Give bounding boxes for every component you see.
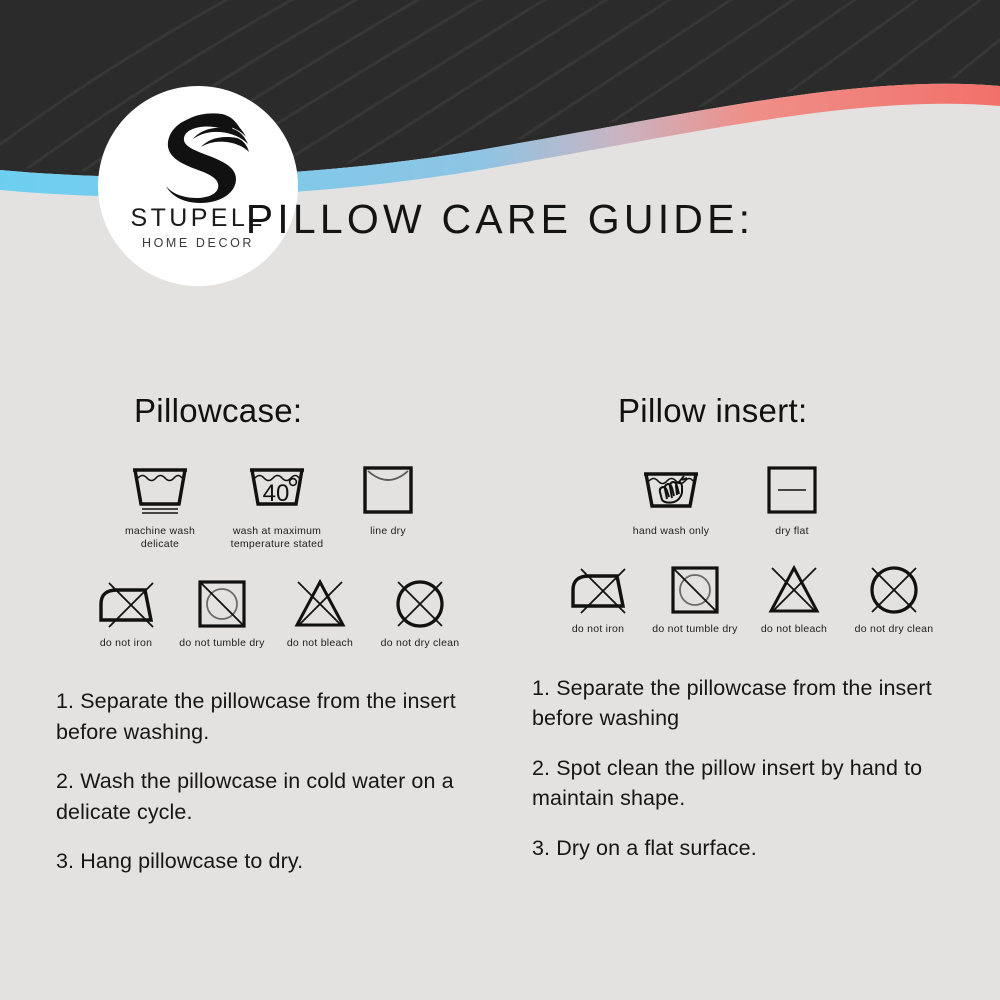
- care-symbol-caption: do not dry clean: [381, 637, 460, 650]
- line-dry-icon: [359, 460, 417, 518]
- pillow-insert-instructions: 1. Separate the pillowcase from the inse…: [520, 673, 980, 864]
- care-symbol-caption: do not iron: [572, 623, 624, 636]
- column-pillow-insert: Pillow insert:: [520, 392, 980, 882]
- care-symbol-line-dry: line dry: [340, 460, 436, 538]
- instruction-step: 2. Wash the pillowcase in cold water on …: [56, 766, 486, 827]
- care-symbol-do-not-dry-clean: do not dry clean: [842, 558, 946, 636]
- machine-wash-delicate-icon: [129, 460, 191, 518]
- care-symbol-dry-flat: dry flat: [742, 460, 842, 538]
- column-heading-pillowcase: Pillowcase:: [42, 392, 512, 438]
- care-symbol-do-not-bleach: do not bleach: [272, 572, 368, 650]
- care-columns: Pillowcase: machine washdelicate: [0, 392, 1000, 952]
- care-symbol-caption: do not bleach: [287, 637, 353, 650]
- pillowcase-icon-row-2: do not iron do not tumble dry: [42, 572, 512, 650]
- do-not-iron-icon: [95, 572, 157, 630]
- care-symbol-caption: wash at maximumtemperature stated: [231, 525, 324, 552]
- do-not-dry-clean-icon: [866, 558, 922, 616]
- care-symbol-do-not-iron: do not iron: [552, 558, 644, 636]
- pillowcase-icon-row-1: machine washdelicate 40 wash at maximumt…: [42, 460, 512, 552]
- care-symbol-caption: do not bleach: [761, 623, 827, 636]
- instruction-step: 2. Spot clean the pillow insert by hand …: [532, 753, 952, 814]
- pillowcase-instructions: 1. Separate the pillowcase from the inse…: [42, 686, 512, 877]
- pillow-insert-icon-grid: hand wash only dry flat: [520, 460, 980, 637]
- wash-max-temperature-40-icon: 40: [246, 460, 308, 518]
- care-symbol-caption: dry flat: [775, 525, 809, 538]
- instruction-step: 1. Separate the pillowcase from the inse…: [532, 673, 952, 734]
- care-symbol-do-not-iron: do not iron: [80, 572, 172, 650]
- care-symbol-caption: do not dry clean: [855, 623, 934, 636]
- pillowcase-icon-grid: machine washdelicate 40 wash at maximumt…: [42, 460, 512, 650]
- column-heading-pillow-insert: Pillow insert:: [520, 392, 980, 438]
- do-not-bleach-icon: [764, 558, 824, 616]
- care-symbol-hand-wash-only: hand wash only: [616, 460, 726, 538]
- brand-logo-badge: STUPELL HOME DECOR: [98, 86, 298, 286]
- care-symbol-do-not-bleach: do not bleach: [746, 558, 842, 636]
- care-symbol-machine-wash-delicate: machine washdelicate: [104, 460, 216, 552]
- dry-flat-icon: [763, 460, 821, 518]
- instruction-step: 3. Hang pillowcase to dry.: [56, 846, 486, 877]
- do-not-dry-clean-icon: [392, 572, 448, 630]
- column-pillowcase: Pillowcase: machine washdelicate: [42, 392, 512, 896]
- instruction-step: 1. Separate the pillowcase from the inse…: [56, 686, 486, 747]
- care-symbol-wash-max-temperature: 40 wash at maximumtemperature stated: [218, 460, 336, 552]
- pillow-insert-icon-row-2: do not iron do not tumble dry: [520, 558, 980, 636]
- do-not-iron-icon: [567, 558, 629, 616]
- care-symbol-caption: machine washdelicate: [125, 525, 195, 552]
- do-not-tumble-dry-icon: [194, 572, 250, 630]
- pillow-insert-icon-row-1: hand wash only dry flat: [520, 460, 980, 538]
- care-symbol-caption: do not iron: [100, 637, 152, 650]
- hand-wash-only-icon: [640, 460, 702, 518]
- care-symbol-caption: do not tumble dry: [179, 637, 264, 650]
- care-symbol-caption: hand wash only: [633, 525, 709, 538]
- care-symbol-do-not-tumble-dry: do not tumble dry: [644, 558, 746, 636]
- do-not-bleach-icon: [290, 572, 350, 630]
- care-symbol-caption: do not tumble dry: [652, 623, 737, 636]
- care-symbol-caption: line dry: [370, 525, 406, 538]
- stupell-swoosh-logo-icon: [144, 108, 252, 204]
- care-symbol-do-not-dry-clean: do not dry clean: [368, 572, 472, 650]
- do-not-tumble-dry-icon: [667, 558, 723, 616]
- care-symbol-do-not-tumble-dry: do not tumble dry: [172, 572, 272, 650]
- svg-text:40: 40: [263, 480, 290, 507]
- page-title: PILLOW CARE GUIDE:: [0, 196, 1000, 243]
- instruction-step: 3. Dry on a flat surface.: [532, 833, 952, 864]
